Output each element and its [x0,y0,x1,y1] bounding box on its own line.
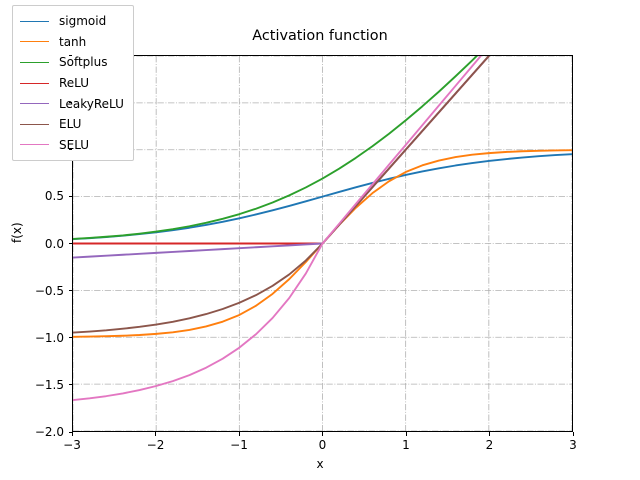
x-tick-mark [322,432,323,436]
x-tick-mark [406,432,407,436]
x-tick-mark [239,432,240,436]
y-tick-mark [69,243,73,244]
legend-label: LeakyReLU [59,98,124,110]
x-tick-label: 1 [386,439,426,451]
legend-item-relu[interactable]: ReLU [20,73,124,94]
y-tick-mark [69,290,73,291]
y-tick-mark [69,384,73,385]
legend-item-selu[interactable]: SELU [20,135,124,156]
legend-color-swatch [20,21,49,22]
legend-color-swatch [20,144,49,145]
x-tick-label: −2 [136,439,176,451]
legend-color-swatch [20,103,49,104]
plot-canvas [73,56,572,431]
x-tick-label: −3 [52,439,92,451]
y-tick-mark [69,55,73,56]
x-tick-label: −1 [219,439,259,451]
legend-item-elu[interactable]: ELU [20,114,124,135]
legend-color-swatch [20,124,49,125]
legend-item-tanh[interactable]: tanh [20,32,124,53]
legend-color-swatch [20,62,49,63]
plot-area [72,55,573,432]
x-tick-label: 0 [303,439,343,451]
matplotlib-figure: Activation function −2.0−1.5−1.0−0.50.00… [0,0,640,480]
x-tick-mark [72,432,73,436]
x-tick-mark [489,432,490,436]
x-tick-label: 3 [553,439,593,451]
y-tick-label: 0.5 [45,190,64,202]
legend-color-swatch [20,41,49,42]
legend-label: SELU [59,139,89,151]
y-tick-label: 0.0 [45,238,64,250]
y-tick-mark [69,337,73,338]
y-tick-mark [69,196,73,197]
x-tick-mark [155,432,156,436]
y-tick-mark [69,102,73,103]
y-axis-label: f(x) [11,222,23,243]
legend-label: tanh [59,36,86,48]
legend[interactable]: sigmoidtanhSoftplusReLULeakyReLUELUSELU [12,5,134,161]
legend-color-swatch [20,83,49,84]
y-tick-mark [69,149,73,150]
y-tick-label: −2.0 [35,426,64,438]
legend-item-sigmoid[interactable]: sigmoid [20,11,124,32]
legend-label: ReLU [59,77,89,89]
y-tick-label: −1.5 [35,379,64,391]
y-tick-label: −0.5 [35,285,64,297]
legend-label: Softplus [59,56,108,68]
legend-item-leakyrelu[interactable]: LeakyReLU [20,93,124,114]
x-axis-label: x [0,458,640,470]
y-tick-label: −1.0 [35,332,64,344]
legend-label: sigmoid [59,15,106,27]
x-tick-label: 2 [470,439,510,451]
x-tick-mark [573,432,574,436]
legend-label: ELU [59,118,81,130]
